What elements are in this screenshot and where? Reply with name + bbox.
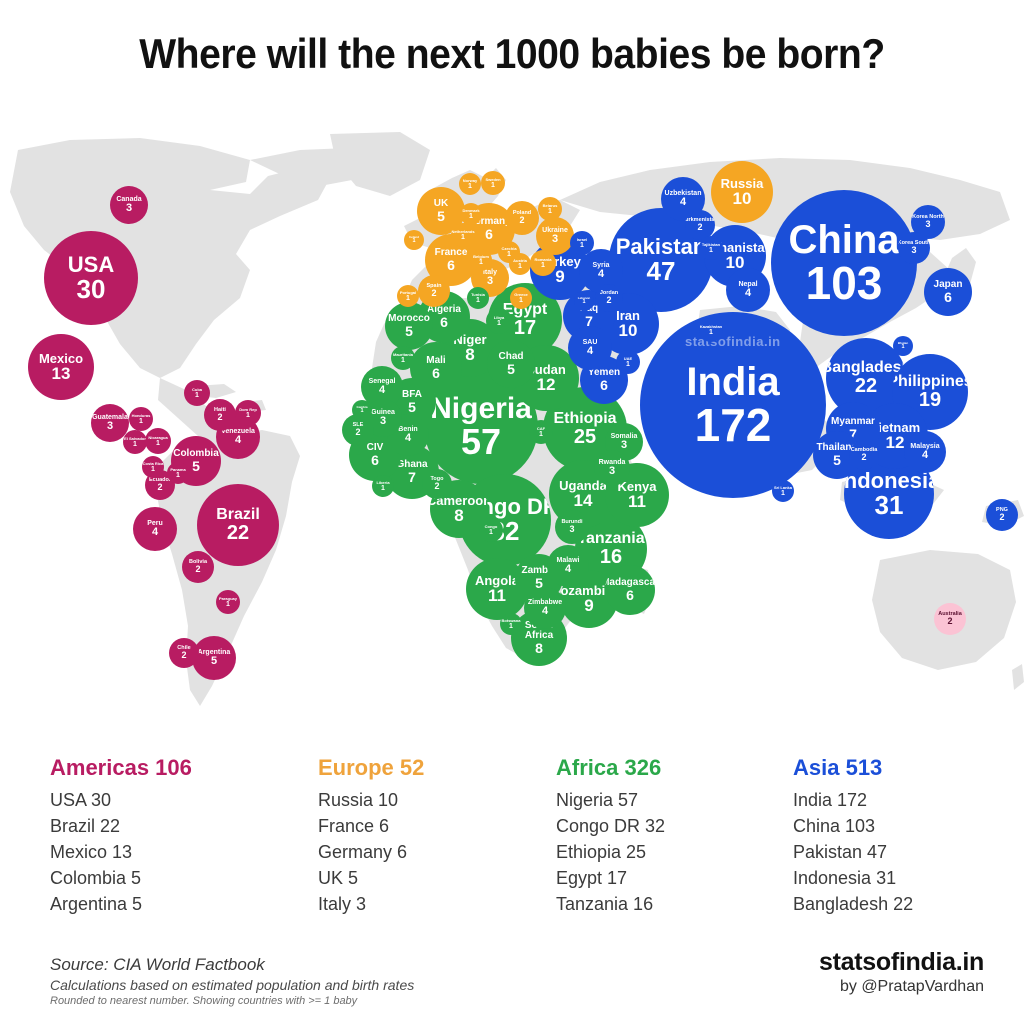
bubble-value: 1	[176, 472, 180, 479]
legend-item: UK 5	[318, 865, 424, 891]
bubble-value: 1	[246, 412, 250, 419]
bubble-value: 13	[52, 365, 71, 382]
legend-item: Germany 6	[318, 839, 424, 865]
bubble-value: 22	[227, 523, 249, 543]
legend-column-asia: Asia 513India 172China 103Pakistan 47Ind…	[793, 755, 913, 917]
legend-item: Pakistan 47	[793, 839, 913, 865]
brand-handle: by @PratapVardhan	[819, 978, 984, 996]
bubble-value: 11	[628, 493, 646, 510]
legend-item: Ethiopia 25	[556, 839, 665, 865]
bubble-value: 3	[107, 421, 113, 432]
bubble-value: 1	[151, 466, 155, 473]
bubble-value: 1	[156, 440, 160, 447]
bubble-value: 8	[535, 641, 543, 655]
bubble-value: 6	[440, 315, 448, 329]
bubble-value: 1	[226, 601, 230, 608]
bubble-value: 31	[875, 492, 904, 518]
bubble-lebanon[interactable]: Lebanon1	[574, 291, 594, 311]
bubble-value: 1	[406, 295, 410, 302]
bubble-mexico[interactable]: Mexico13	[28, 334, 94, 400]
bubble-value: 1	[497, 320, 501, 327]
source-note: Source: CIA World Factbook Calculations …	[50, 955, 414, 1007]
bubble-sri-lanka[interactable]: Sri Lanka1	[772, 480, 794, 502]
bubble-value: 5	[405, 324, 413, 338]
bubble-tunisia[interactable]: Tunisia1	[467, 287, 489, 309]
bubble-honduras[interactable]: Honduras1	[129, 407, 153, 431]
bubble-value: 47	[647, 258, 676, 284]
bubble-costa-rica[interactable]: Costa Rica1	[142, 456, 164, 478]
bubble-caf[interactable]: CAF1	[529, 420, 553, 444]
bubble-peru[interactable]: Peru4	[133, 507, 177, 551]
bubble-value: 10	[619, 322, 638, 339]
bubble-value: 2	[861, 453, 866, 462]
bubble-value: 1	[381, 485, 385, 492]
bubble-morocco[interactable]: Morocco5	[385, 302, 433, 350]
bubble-value: 2	[947, 617, 952, 626]
bubble-denmark[interactable]: Denmark1	[460, 203, 482, 225]
bubble-value: 2	[697, 223, 702, 232]
bubble-value: 19	[919, 390, 941, 410]
bubble-value: 2	[157, 483, 162, 492]
bubble-value: 4	[587, 346, 593, 357]
bubble-value: 3	[552, 234, 558, 245]
bubble-value: 172	[695, 402, 772, 448]
bubble-value: 1	[476, 297, 480, 304]
bubble-haiti[interactable]: Haiti2	[204, 399, 236, 431]
bubble-value: 6	[432, 366, 440, 380]
bubble-value: 5	[833, 453, 841, 467]
bubble-israel[interactable]: Israel1	[570, 231, 594, 255]
bubble-libya[interactable]: Libya1	[486, 308, 512, 334]
legend-item: USA 30	[50, 787, 192, 813]
bubble-value: 30	[77, 276, 106, 302]
bubble-value: 3	[925, 220, 930, 229]
bubble-brazil[interactable]: Brazil22	[197, 484, 279, 566]
bubble-portugal[interactable]: Portugal1	[397, 285, 419, 307]
bubble-value: 5	[408, 400, 416, 414]
legend-item: Egypt 17	[556, 865, 665, 891]
bubble-value: 1	[491, 182, 495, 189]
bubble-value: 3	[569, 525, 574, 534]
bubble-bhutan[interactable]: Bhutan1	[893, 336, 913, 356]
legend-item: Tanzania 16	[556, 891, 665, 917]
bubble-value: 4	[745, 288, 751, 299]
bubble-value: 1	[709, 329, 713, 336]
bubble-botswana[interactable]: Botswana1	[500, 613, 522, 635]
bubble-togo[interactable]: Togo2	[422, 469, 452, 499]
bubble-value: 17	[514, 318, 536, 338]
bubble-tajikistan[interactable]: Tajikistan1	[699, 236, 723, 260]
bubble-sau[interactable]: SAU4	[568, 326, 612, 370]
legend-item: Russia 10	[318, 787, 424, 813]
bubble-value: 4	[152, 527, 158, 538]
bubble-dom-rep[interactable]: Dom Rep1	[235, 400, 261, 426]
bubble-value: 5	[437, 209, 445, 223]
bubble-netherlands[interactable]: Netherlands1	[451, 223, 475, 247]
bubble-cuba[interactable]: Cuba1	[184, 380, 210, 406]
bubble-value: 2	[434, 482, 439, 491]
bubble-value: 6	[447, 258, 455, 272]
bubble-korea-south[interactable]: Korea South3	[898, 232, 930, 264]
bubble-value: 14	[574, 492, 593, 509]
bubble-canada[interactable]: Canada3	[110, 186, 148, 224]
bubble-argentina[interactable]: Argentina5	[192, 636, 236, 680]
bubble-value: 1	[901, 345, 904, 351]
legend-item: Colombia 5	[50, 865, 192, 891]
bubble-value: 3	[621, 440, 627, 451]
bubble-el-salvador[interactable]: El Salvador1	[123, 430, 147, 454]
bubble-value: 1	[518, 263, 522, 270]
bubble-label: Nigeria	[430, 394, 532, 424]
bubble-malaysia[interactable]: Malaysia4	[904, 431, 946, 473]
bubble-liberia[interactable]: Liberia1	[372, 475, 394, 497]
bubble-value: 6	[944, 290, 952, 304]
bubble-label: Pakistan	[616, 236, 707, 258]
bubble-ireland[interactable]: Ireland1	[404, 230, 424, 250]
bubble-value: 8	[454, 507, 463, 524]
bubble-china[interactable]: China103	[771, 190, 917, 336]
bubble-cambodia[interactable]: Cambodia2	[849, 440, 879, 470]
bubble-burundi[interactable]: Burundi3	[555, 510, 589, 544]
legend-title-asia: Asia 513	[793, 755, 913, 781]
bubble-nicaragua[interactable]: Nicaragua1	[145, 428, 171, 454]
bubble-value: 6	[600, 378, 608, 392]
bubble-value: 5	[211, 656, 217, 667]
bubble-value: 4	[379, 385, 385, 396]
bubble-value: 1	[781, 490, 785, 497]
bubble-bolivia[interactable]: Bolivia2	[182, 551, 214, 583]
bubble-value: 4	[565, 564, 571, 575]
bubble-value: 16	[600, 547, 622, 567]
bubble-value: 1	[541, 262, 545, 269]
bubble-value: 1	[468, 183, 472, 190]
world-bubble-map: India172statsofindia.inChina103Nigeria57…	[0, 130, 1024, 720]
bubble-value: 4	[235, 435, 241, 446]
bubble-value: 11	[488, 587, 506, 604]
bubble-india[interactable]: India172	[640, 312, 826, 498]
bubble-usa[interactable]: USA30	[44, 231, 138, 325]
legend-item: China 103	[793, 813, 913, 839]
legend-item: Italy 3	[318, 891, 424, 917]
bubble-romania[interactable]: Romania1	[530, 250, 556, 276]
bubble-value: 3	[380, 416, 386, 427]
legend-item: Mexico 13	[50, 839, 192, 865]
legend-item: Bangladesh 22	[793, 891, 913, 917]
bubble-value: 1	[479, 259, 483, 266]
legend-item: Indonesia 31	[793, 865, 913, 891]
bubble-value: 2	[431, 289, 436, 298]
bubble-value: 7	[408, 470, 416, 484]
bubble-value: 4	[542, 606, 548, 617]
bubble-spain[interactable]: Spain2	[418, 275, 450, 307]
bubble-value: 1	[519, 297, 523, 304]
bubble-value: 1	[139, 418, 143, 425]
bubble-label: China	[788, 220, 899, 260]
bubble-value: 1	[489, 529, 493, 536]
bubble-value: 8	[465, 346, 474, 363]
bubble-value: 1	[709, 247, 713, 254]
bubble-label: Philippines	[892, 374, 968, 390]
bubble-label: Ethiopia	[553, 411, 616, 427]
bubble-malawi[interactable]: Malawi4	[547, 545, 589, 587]
bubble-value: 57	[461, 424, 501, 460]
bubble-value: 1	[461, 234, 465, 241]
bubble-value: 103	[806, 260, 883, 306]
legend-column-europe: Europe 52Russia 10France 6Germany 6UK 5I…	[318, 755, 424, 917]
bubble-value: 1	[133, 441, 137, 448]
bubble-value: 1	[360, 409, 363, 415]
bubble-chile[interactable]: Chile2	[169, 638, 199, 668]
bubble-congo[interactable]: Congo1	[479, 518, 503, 542]
bubble-rwanda[interactable]: Rwanda3	[594, 450, 630, 486]
legend-column-africa: Africa 326Nigeria 57Congo DR 32Ethiopia …	[556, 755, 665, 917]
bubble-belarus[interactable]: Belarus1	[538, 197, 562, 221]
bubble-chad[interactable]: Chad5	[487, 340, 535, 388]
bubble-label: Brazil	[216, 507, 260, 523]
bubble-value: 6	[626, 588, 634, 602]
bubble-value: 1	[469, 213, 473, 220]
bubble-australia[interactable]: Australia2	[934, 603, 966, 635]
bubble-sweden[interactable]: Sweden1	[481, 171, 505, 195]
bubble-mauritania[interactable]: Mauritania1	[391, 346, 415, 370]
bubble-value: 1	[582, 300, 585, 306]
bubble-madagascar[interactable]: Madagascar6	[605, 565, 655, 615]
bubble-value: 6	[485, 227, 493, 241]
brand-site: statsofindia.in	[819, 948, 984, 977]
legend-column-americas: Americas 106USA 30Brazil 22Mexico 13Colo…	[50, 755, 192, 917]
legend-title-europe: Europe 52	[318, 755, 424, 781]
source-line-1: Source: CIA World Factbook	[50, 955, 414, 975]
bubble-value: 5	[192, 459, 200, 473]
bubble-value: 2	[181, 651, 186, 660]
legend-item: France 6	[318, 813, 424, 839]
bubble-austria[interactable]: Austria1	[509, 253, 531, 275]
bubble-value: 9	[555, 268, 564, 285]
bubble-poland[interactable]: Poland2	[505, 201, 539, 235]
bubble-russia[interactable]: Russia10	[711, 161, 773, 223]
bubble-value: 1	[401, 357, 405, 364]
bubble-value: 3	[911, 246, 916, 255]
bubble-label: Indonesia	[844, 470, 934, 492]
bubble-value: 4	[405, 433, 411, 444]
bubble-value: 25	[574, 427, 596, 447]
source-line-3: Rounded to nearest number. Showing count…	[50, 995, 414, 1007]
legend-item: Argentina 5	[50, 891, 192, 917]
bubble-value: 1	[548, 208, 552, 215]
bubble-greece[interactable]: Greece1	[510, 287, 532, 309]
bubble-uae[interactable]: UAE1	[616, 350, 640, 374]
bubble-value: 4	[680, 197, 686, 208]
brand-block: statsofindia.in by @PratapVardhan	[819, 948, 984, 996]
bubble-label: Bangladesh	[826, 360, 906, 376]
bubble-value: 1	[580, 242, 584, 249]
bubble-value: 6	[371, 453, 379, 467]
bubble-png[interactable]: PNG2	[986, 499, 1018, 531]
bubble-value: 4	[598, 269, 604, 280]
bubble-value: 9	[584, 597, 593, 614]
bubble-japan[interactable]: Japan6	[924, 268, 972, 316]
bubble-layer: India172statsofindia.inChina103Nigeria57…	[0, 130, 1024, 720]
bubble-value: 3	[609, 466, 615, 477]
bubble-value: 2	[519, 216, 524, 225]
bubble-belgium[interactable]: Belgium1	[470, 249, 492, 271]
bubble-value: 12	[886, 434, 905, 451]
bubble-value: 1	[195, 392, 199, 399]
legend-item: India 172	[793, 787, 913, 813]
bubble-value: 5	[507, 362, 515, 376]
bubble-value: 2	[355, 428, 360, 437]
bubble-jordan[interactable]: Jordan2	[595, 284, 623, 312]
bubble-nepal[interactable]: Nepal4	[726, 268, 770, 312]
bubble-value: 3	[487, 276, 493, 287]
bubble-panama[interactable]: Panama1	[167, 462, 189, 484]
legend-title-americas: Americas 106	[50, 755, 192, 781]
region-legend: Americas 106USA 30Brazil 22Mexico 13Colo…	[0, 755, 1024, 925]
infographic-root: Where will the next 1000 babies be born?	[0, 0, 1024, 1024]
bubble-value: 22	[855, 376, 877, 396]
bubble-kazakhstan[interactable]: Kazakhstan1	[699, 318, 723, 342]
bubble-value: 1	[509, 623, 513, 630]
bubble-norway[interactable]: Norway1	[459, 173, 481, 195]
bubble-zimbabwe[interactable]: Zimbabwe4	[524, 587, 566, 629]
bubble-paraguay[interactable]: Paraguay1	[216, 590, 240, 614]
source-line-2: Calculations based on estimated populati…	[50, 977, 414, 993]
legend-item: Brazil 22	[50, 813, 192, 839]
bubble-value: 1	[626, 361, 630, 368]
bubble-value: 1	[412, 239, 415, 245]
bubble-value: 10	[733, 190, 752, 207]
bubble-gambia[interactable]: Gambia1	[352, 400, 372, 420]
bubble-label: India	[686, 362, 779, 402]
bubble-value: 12	[537, 376, 556, 393]
bubble-label: USA	[68, 254, 114, 276]
bubble-value: 2	[999, 513, 1004, 522]
page-title: Where will the next 1000 babies be born?	[36, 30, 988, 78]
legend-title-africa: Africa 326	[556, 755, 665, 781]
legend-item: Congo DR 32	[556, 813, 665, 839]
legend-item: Nigeria 57	[556, 787, 665, 813]
bubble-value: 2	[195, 565, 200, 574]
bubble-value: 4	[922, 450, 928, 461]
bubble-value: 2	[606, 296, 611, 305]
bubble-value: 2	[217, 413, 222, 422]
bubble-value: 3	[126, 203, 132, 214]
bubble-value: 1	[539, 431, 543, 438]
